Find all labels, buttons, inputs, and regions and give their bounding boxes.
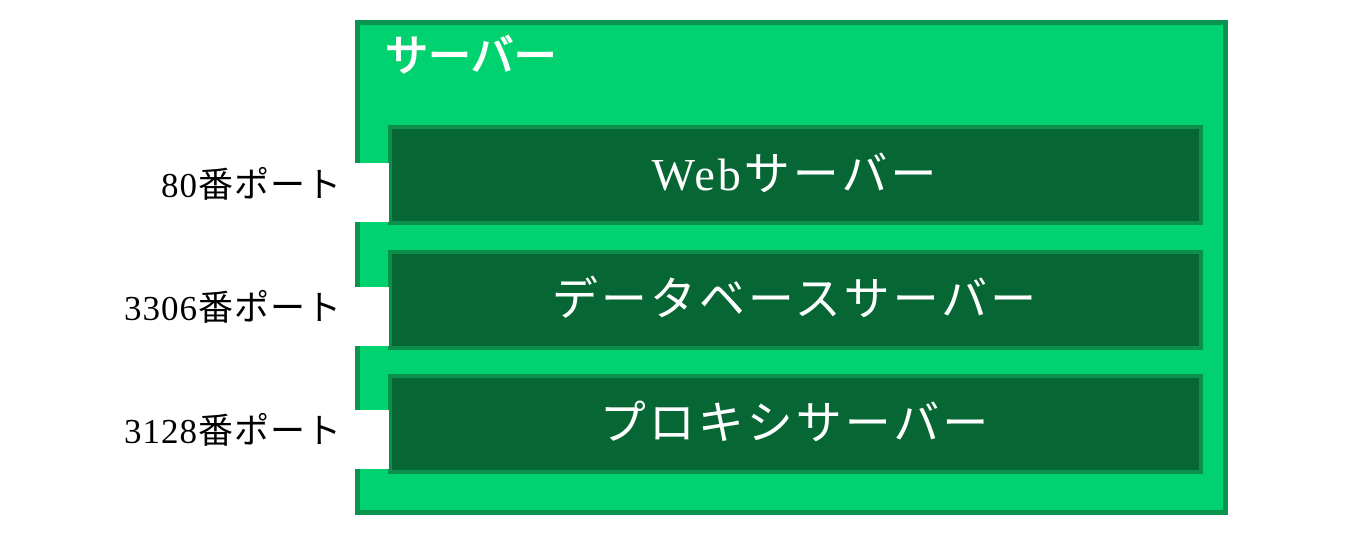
service-box-web: Webサーバー xyxy=(388,125,1203,225)
port-label-proxy: 3128番ポート xyxy=(124,414,342,449)
service-label-web: Webサーバー xyxy=(652,152,940,198)
port-notch-database xyxy=(355,287,389,346)
server-title: サーバー xyxy=(385,36,557,79)
service-label-database: データベースサーバー xyxy=(552,277,1039,323)
port-label-database: 3306番ポート xyxy=(124,291,342,326)
service-box-proxy: プロキシサーバー xyxy=(388,374,1203,474)
port-notch-web xyxy=(355,163,389,222)
port-notch-proxy xyxy=(355,410,389,469)
diagram-canvas: サーバー Webサーバー データベースサーバー プロキシサーバー 80番ポート … xyxy=(0,0,1354,541)
service-box-database: データベースサーバー xyxy=(388,250,1203,350)
port-label-web: 80番ポート xyxy=(161,168,342,203)
service-label-proxy: プロキシサーバー xyxy=(600,401,992,447)
